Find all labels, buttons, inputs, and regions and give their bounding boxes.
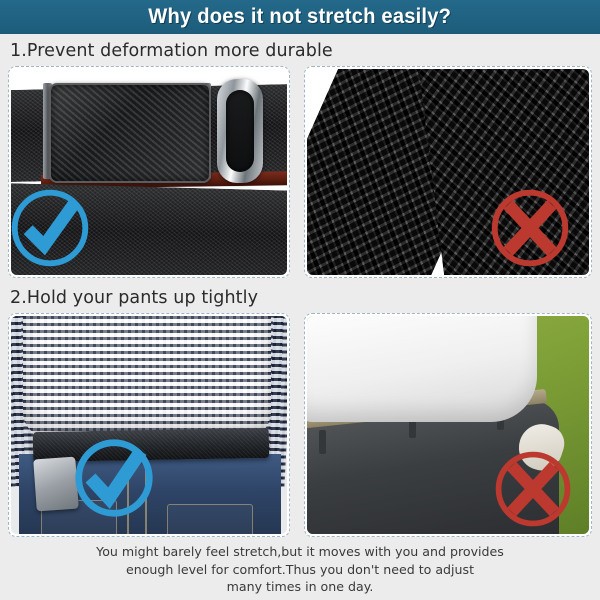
panel-belt-worn-correct [8,313,290,537]
buckle-loop-opening [226,90,254,172]
caption-line-2: enough level for comfort.Thus you don't … [0,561,600,579]
buckle-chrome-loop [217,79,263,183]
white-shirt [307,316,537,422]
belt-buckle [49,83,211,183]
worn-belt-scene [11,316,287,534]
checkered-shirt [23,316,271,438]
panel-carbon-belt [8,66,290,278]
caption-line-1: You might barely feel stretch,but it mov… [0,543,600,561]
page-title: Why does it not stretch easily? [149,5,452,29]
caption-line-3: many times in one day. [0,578,600,596]
panel-belt-worn-image [11,316,287,534]
sagging-pants-scene [307,316,589,534]
panel-woven-belt-image [307,69,589,275]
footer-caption: You might barely feel stretch,but it mov… [0,543,600,596]
woven-belt-strand-right [417,69,589,275]
section-heading-2: 2.Hold your pants up tightly [10,288,258,308]
panel-belt-worn-incorrect [304,313,592,537]
carbon-belt-scene [11,69,287,275]
panel-woven-belt [304,66,592,278]
panel-sagging-pants-image [307,316,589,534]
pants-belt-loop-left [319,430,326,454]
jeans-center-seam-2 [145,454,147,534]
phone-in-pocket [33,457,79,512]
panel-carbon-belt-image [11,69,287,275]
jeans-pocket-right [167,504,253,534]
product-infographic: Why does it not stretch easily? 1.Preven… [0,0,600,600]
belt-strap-lower [11,183,287,275]
woven-belt-scene [307,69,589,275]
jeans-center-seam [127,454,129,534]
header-bar: Why does it not stretch easily? [0,0,600,34]
section-heading-1: 1.Prevent deformation more durable [10,41,333,61]
